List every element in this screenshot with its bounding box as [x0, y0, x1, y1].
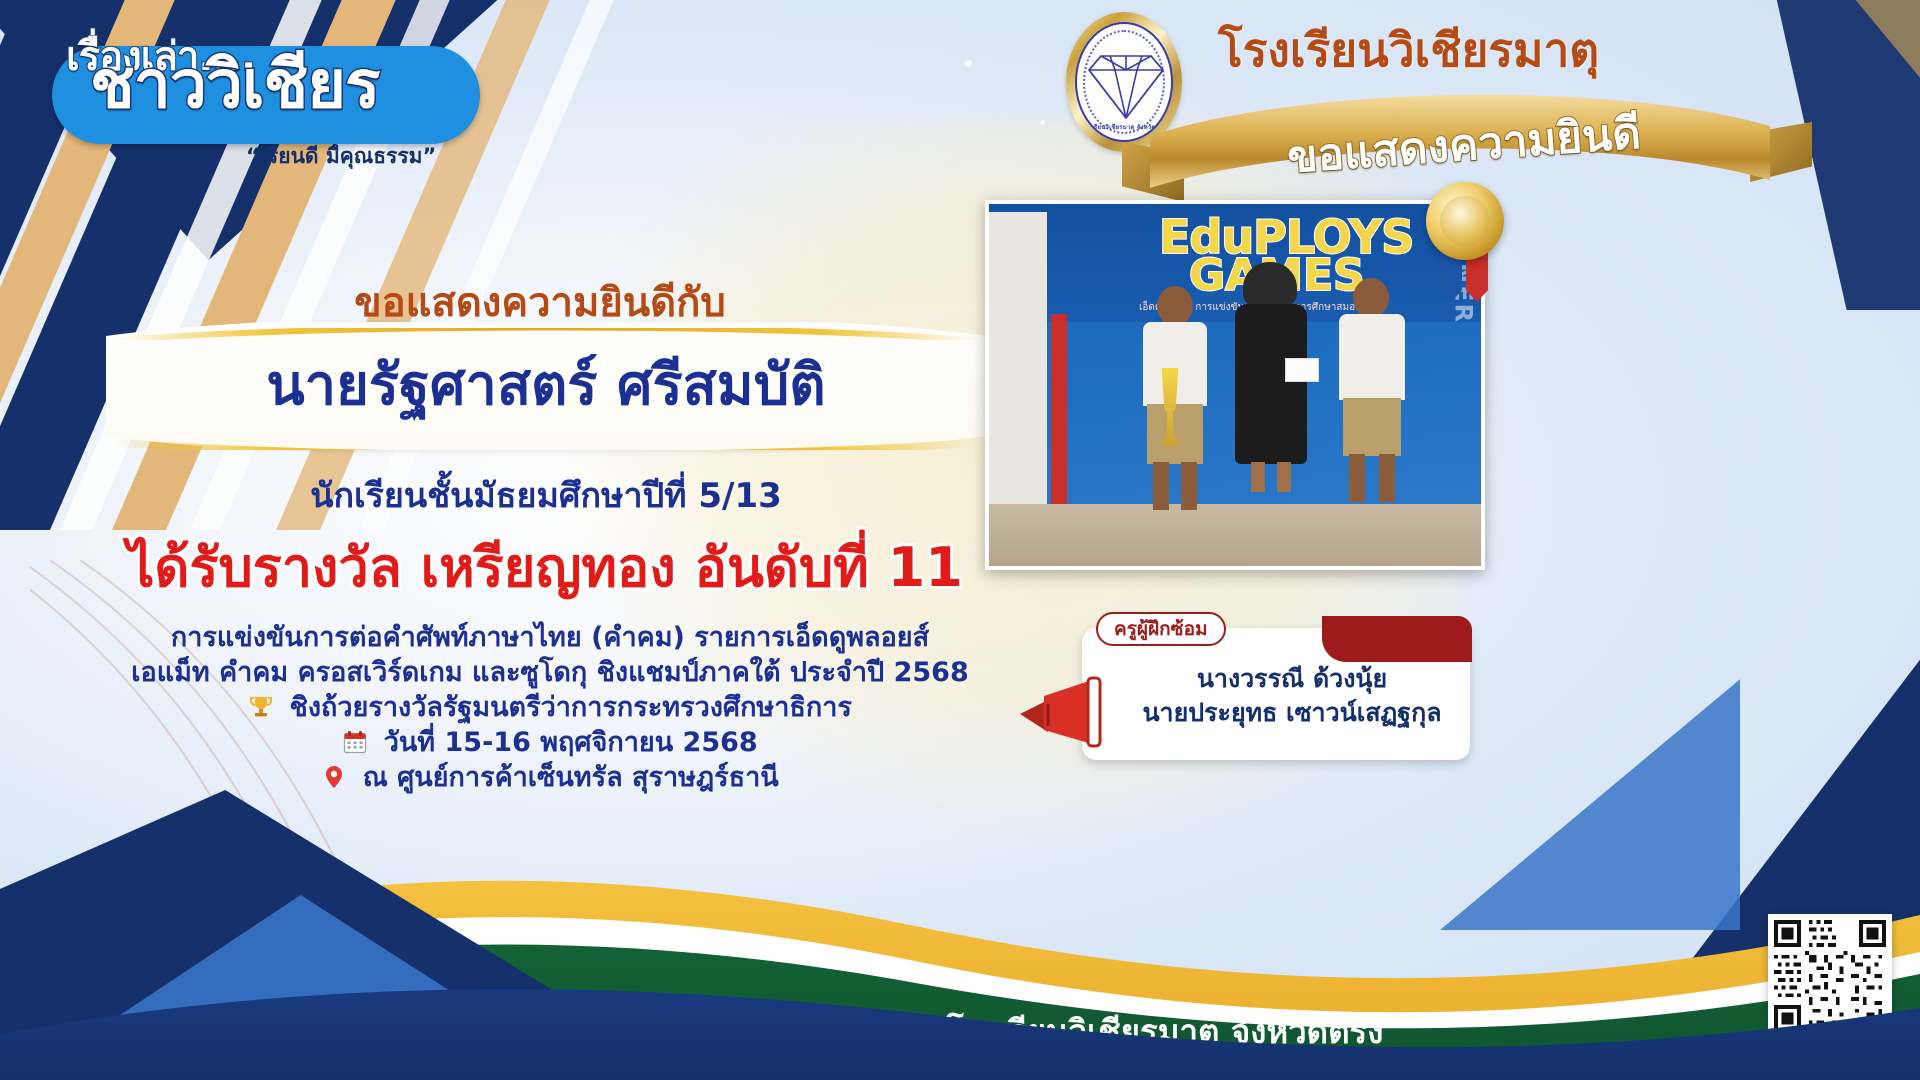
student-class: นักเรียนชั้นมัธยมศึกษาปีที่ 5/13: [100, 468, 992, 522]
detail-text: วันที่ 15-16 พฤศจิกายน 2568: [384, 727, 758, 758]
location-pin-icon: [321, 764, 347, 790]
detail-row: ณ ศูนย์การค้าเซ็นทรัล สุราษฎร์ธานี: [90, 760, 1010, 795]
detail-row: วันที่ 15-16 พฤศจิกายน 2568: [90, 725, 1010, 760]
student-name: นายรัฐศาสตร์ ศรีสมบัติ: [100, 340, 992, 429]
qr-code-image: [1774, 920, 1886, 1032]
sparkle-dot: [965, 60, 972, 67]
gold-medal-icon: [1418, 182, 1514, 312]
photo-teacher-center: [1221, 266, 1321, 516]
brand-badge-main-text: ชาววิเชียร: [90, 54, 379, 117]
coach-name: นางวรรณี ด้วงนุ้ย: [1128, 662, 1456, 696]
award-photo: EduPLOYS GAMES เอ็ดดูพลอยส์ การแข่งขันเก…: [985, 200, 1485, 570]
coach-label: ครูผู้ฝึกซ้อม: [1096, 612, 1226, 646]
detail-text: เอแม็ท คำคม ครอสเวิร์ดเกม และซูโดกุ ชิงแ…: [131, 657, 968, 688]
competition-details: การแข่งขันการต่อคำศัพท์ภาษาไทย (คำคม) รา…: [90, 620, 1010, 795]
school-name: โรงเรียนวิเชียรมาตุ: [1218, 14, 1599, 87]
medal-disc: [1426, 182, 1504, 260]
coach-card-accent: [1322, 616, 1472, 662]
congratulation-poster: เรื่องเล่า.... ชาววิเชียร “เรียนดี มีคุณ…: [0, 0, 1920, 1080]
coach-name: นายประยุทธ เซาวน์เสฏฐกุล: [1128, 696, 1456, 730]
brand-badge: เรื่องเล่า.... ชาววิเชียร: [30, 10, 500, 150]
award-line: ได้รับรางวัล เหรียญทอง อันดับที่ 11: [80, 524, 1010, 610]
calendar-icon: [342, 729, 368, 755]
coach-names: นางวรรณี ด้วงนุ้ย นายประยุทธ เซาวน์เสฏฐก…: [1128, 662, 1456, 730]
detail-row: ชิงถ้วยรางวัลรัฐมนตรีว่าการกระทรวงศึกษาธ…: [90, 690, 1010, 725]
photo-display-stand: [989, 212, 1047, 516]
medal-inner-ring: [1440, 196, 1490, 246]
trophy-icon: [248, 694, 274, 720]
school-motto: “เรียนดี มีคุณธรรม”: [246, 140, 436, 173]
detail-row: เอแม็ท คำคม ครอสเวิร์ดเกม และซูโดกุ ชิงแ…: [90, 655, 1010, 690]
detail-text: ณ ศูนย์การค้าเซ็นทรัล สุราษฎร์ธานี: [363, 762, 779, 793]
detail-row: การแข่งขันการต่อคำศัพท์ภาษาไทย (คำคม) รา…: [90, 620, 1010, 655]
detail-text: ชิงถ้วยรางวัลรัฐมนตรีว่าการกระทรวงศึกษาธ…: [290, 692, 852, 723]
photo-student-right: [1325, 278, 1421, 516]
photo-red-banner: [1051, 314, 1067, 510]
megaphone-icon: [1018, 674, 1114, 748]
detail-text: การแข่งขันการต่อคำศัพท์ภาษาไทย (คำคม) รา…: [171, 622, 929, 653]
sparkle-dot: [1040, 120, 1045, 125]
coach-card: ครูผู้ฝึกซ้อม นางวรรณี ด้วงนุ้ย นายประยุ…: [1082, 628, 1470, 760]
